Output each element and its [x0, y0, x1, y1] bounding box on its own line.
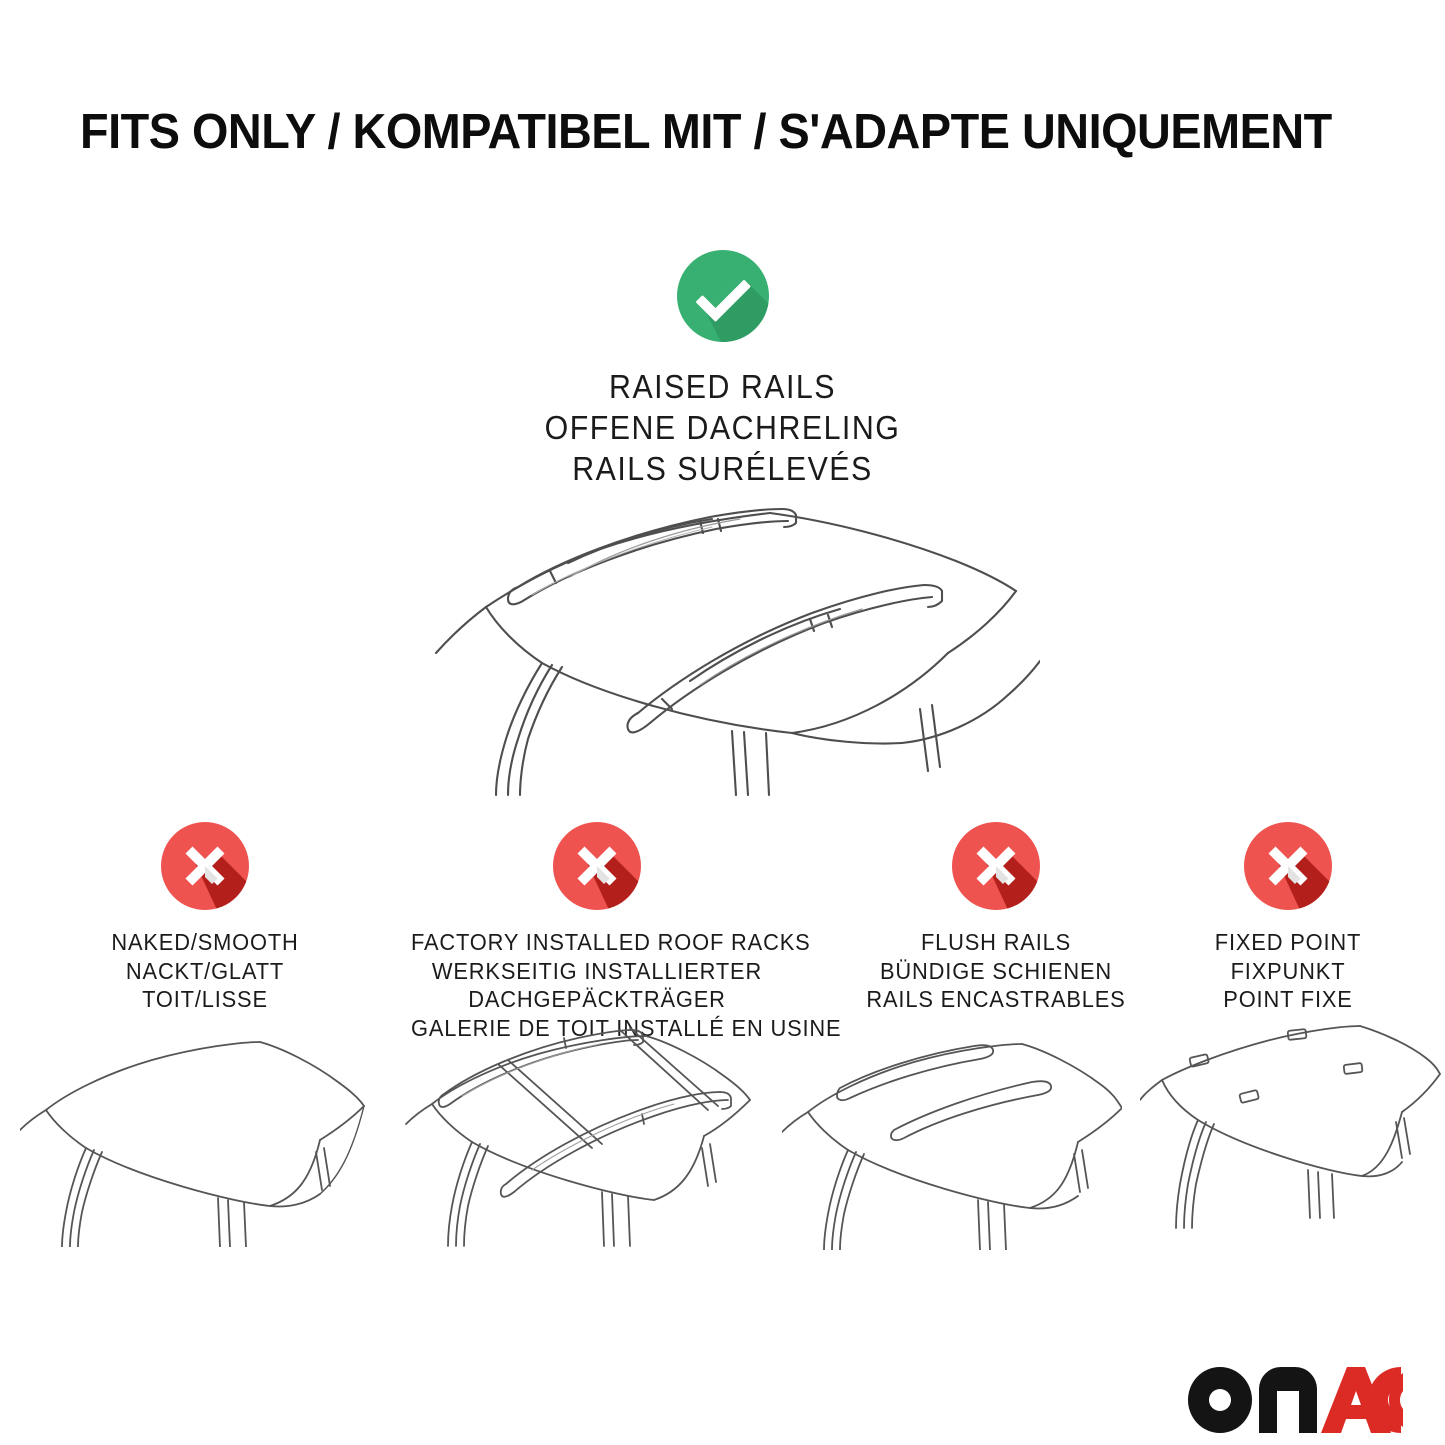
x-circle-icon	[161, 822, 249, 910]
car-roof-raised-rails-illustration	[400, 495, 1040, 805]
compatible-label-line-3: RAILS SURÉLEVÉS	[58, 448, 1387, 489]
incompatible-column-naked-smooth: NAKED/SMOOTH NACKT/GLATT TOIT/LISSE	[5, 822, 405, 1014]
incompatible-label: FIXED POINT FIXPUNKT POINT FIXE	[1102, 928, 1445, 1014]
incompatible-section: NAKED/SMOOTH NACKT/GLATT TOIT/LISSE	[0, 822, 1445, 1022]
incompatible-label-line-2: NACKT/GLATT	[19, 957, 391, 986]
incompatible-label-line-1: FIXED POINT	[1102, 928, 1445, 957]
incompatible-label: NAKED/SMOOTH NACKT/GLATT TOIT/LISSE	[19, 928, 391, 1014]
logo-letter-m	[1259, 1367, 1317, 1433]
compatible-section: RAISED RAILS OFFENE DACHRELING RAILS SUR…	[0, 250, 1445, 489]
compatible-label-line-2: OFFENE DACHRELING	[58, 407, 1387, 448]
incompatible-label-line-3: DACHGEPÄCKTRÄGER	[411, 985, 783, 1014]
page-title: FITS ONLY / KOMPATIBEL MIT / S'ADAPTE UN…	[80, 104, 1312, 160]
compatible-label: RAISED RAILS OFFENE DACHRELING RAILS SUR…	[58, 366, 1387, 489]
compatible-label-line-1: RAISED RAILS	[58, 366, 1387, 407]
x-circle-icon	[952, 822, 1040, 910]
omac-logo	[1187, 1363, 1403, 1435]
incompatible-column-factory-roof-racks: FACTORY INSTALLED ROOF RACKS WERKSEITIG …	[397, 822, 797, 1042]
x-circle-icon	[553, 822, 641, 910]
car-roof-fixed-point-illustration	[1140, 1020, 1442, 1250]
incompatible-label-line-3: POINT FIXE	[1102, 985, 1445, 1014]
logo-letter-o	[1188, 1367, 1252, 1433]
infographic-canvas: FITS ONLY / KOMPATIBEL MIT / S'ADAPTE UN…	[0, 0, 1445, 1445]
incompatible-label-line-2: WERKSEITIG INSTALLIERTER	[411, 957, 783, 986]
incompatible-label-line-2: FIXPUNKT	[1102, 957, 1445, 986]
check-circle-icon	[677, 250, 769, 342]
incompatible-label-line-1: NAKED/SMOOTH	[19, 928, 391, 957]
incompatible-label-line-1: FACTORY INSTALLED ROOF RACKS	[411, 928, 783, 957]
car-roof-naked-smooth-illustration	[20, 1022, 370, 1247]
incompatible-column-fixed-point: FIXED POINT FIXPUNKT POINT FIXE	[1088, 822, 1445, 1014]
incompatible-label-line-3: TOIT/LISSE	[19, 985, 391, 1014]
car-roof-factory-roof-racks-illustration	[402, 1012, 757, 1250]
car-roof-flush-rails-illustration	[782, 1022, 1122, 1250]
x-circle-icon	[1244, 822, 1332, 910]
